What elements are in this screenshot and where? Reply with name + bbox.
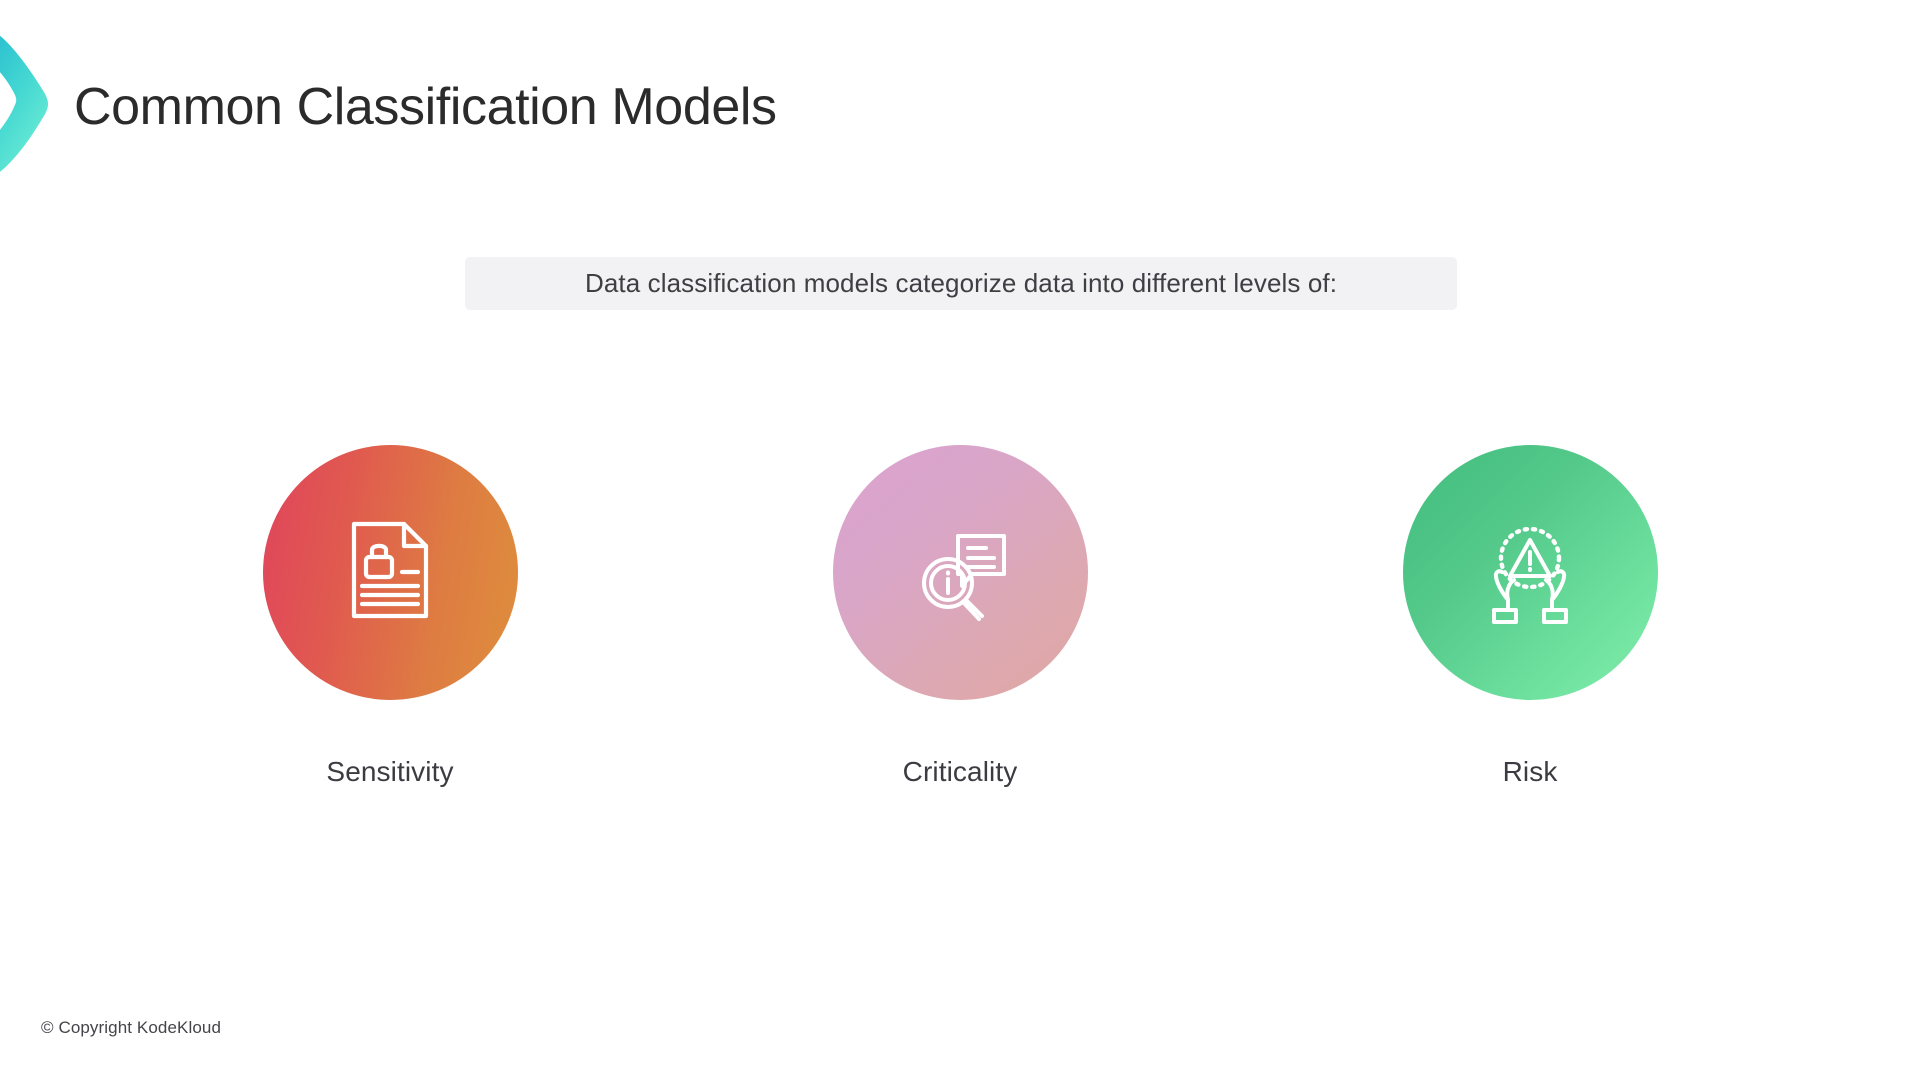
chevron-arrow-logo-icon: [0, 27, 52, 179]
classification-models-row: Sensitivity: [180, 445, 1740, 788]
copyright-text: © Copyright KodeKloud: [41, 1018, 221, 1038]
page-title: Common Classification Models: [74, 78, 777, 138]
card-label-criticality: Criticality: [903, 756, 1018, 788]
card-criticality[interactable]: Criticality: [750, 445, 1170, 788]
icon-circle-sensitivity: [263, 445, 518, 700]
slide-root: Common Classification Models Data classi…: [0, 0, 1920, 1080]
locked-document-icon: [330, 510, 450, 635]
hands-holding-warning-triangle-icon: [1470, 510, 1590, 635]
card-label-risk: Risk: [1503, 756, 1558, 788]
icon-circle-criticality: [833, 445, 1088, 700]
icon-circle-risk: [1403, 445, 1658, 700]
card-label-sensitivity: Sensitivity: [326, 756, 453, 788]
card-risk[interactable]: Risk: [1320, 445, 1740, 788]
subtitle-text: Data classification models categorize da…: [585, 268, 1337, 299]
magnifier-info-speech-bubble-icon: [900, 510, 1020, 635]
card-sensitivity[interactable]: Sensitivity: [180, 445, 600, 788]
subtitle-banner: Data classification models categorize da…: [465, 257, 1457, 310]
